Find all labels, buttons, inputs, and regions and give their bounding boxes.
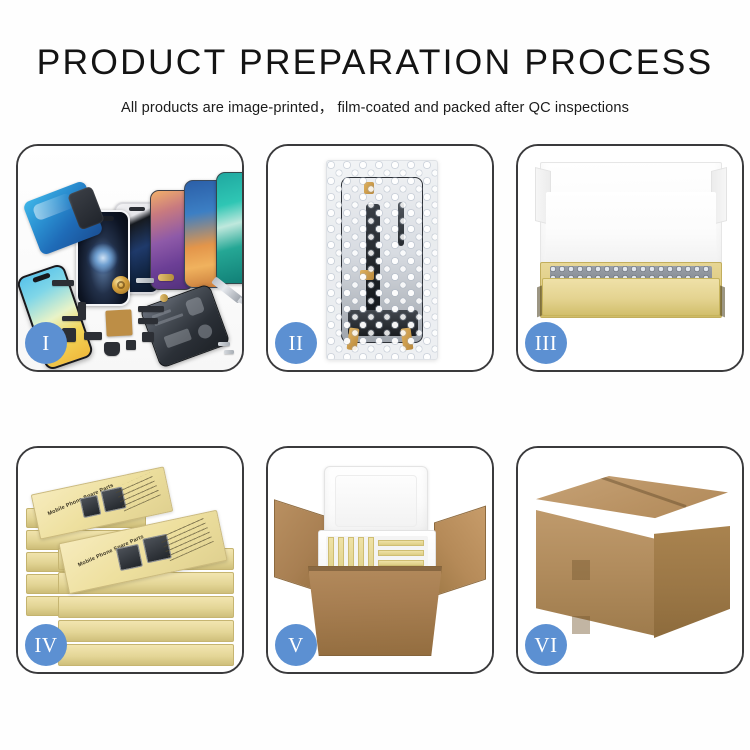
header: PRODUCT PREPARATION PROCESS All products…	[0, 0, 750, 130]
bubble-wrap-bag	[326, 160, 438, 360]
printed-text-block	[158, 516, 213, 561]
carton-side-face	[654, 526, 730, 638]
page-subtitle: All products are image-printed， film-coa…	[121, 96, 629, 117]
gold-chip-grid	[105, 309, 132, 336]
carton-front-face	[536, 510, 656, 636]
carton-body	[308, 566, 442, 656]
step-badge-3: III	[525, 322, 567, 364]
printed-phone-image	[79, 495, 102, 519]
product-preparation-infographic: PRODUCT PREPARATION PROCESS All products…	[0, 0, 750, 750]
spare-part	[158, 274, 174, 281]
foam-liner	[546, 192, 716, 268]
yellow-box	[378, 540, 424, 546]
phone-back-cover	[139, 283, 230, 368]
spare-part	[224, 350, 234, 354]
sealed-carton	[536, 476, 728, 642]
step-badge-1: I	[25, 322, 67, 364]
spare-part	[160, 294, 168, 302]
process-step-6[interactable]: VI	[516, 446, 744, 674]
process-step-3[interactable]: III	[516, 144, 744, 372]
tape-strip	[360, 270, 374, 280]
spare-part	[138, 306, 164, 312]
step-badge-2: II	[275, 322, 317, 364]
process-step-1[interactable]: I	[16, 144, 244, 372]
step-badge-5: V	[275, 624, 317, 666]
tape-strip	[364, 182, 374, 194]
cover-detail-4	[163, 328, 192, 348]
phone-teal	[216, 172, 242, 284]
process-step-5[interactable]: V	[266, 446, 494, 674]
carton-flap-right	[434, 506, 486, 597]
connector-board	[348, 310, 418, 336]
flex-cable	[366, 204, 380, 322]
spare-part	[126, 340, 136, 350]
carton-tape-mark	[572, 616, 590, 634]
side-component	[398, 202, 404, 246]
box-lid	[58, 620, 234, 642]
tape-strip	[401, 327, 414, 350]
styrofoam-lid	[324, 466, 428, 538]
spare-part	[218, 342, 230, 346]
printed-text-block	[115, 472, 162, 511]
wrapped-screen-part	[341, 177, 423, 343]
yellow-box	[378, 560, 424, 566]
step-badge-6: VI	[525, 624, 567, 666]
process-step-4[interactable]: Mobile Phone Spare Parts Mobile Phone Sp…	[16, 446, 244, 674]
printed-phone-image	[116, 544, 143, 571]
kraft-box-front	[542, 278, 720, 316]
box-lid	[58, 644, 234, 666]
spare-part	[52, 280, 74, 286]
spare-part	[136, 278, 154, 283]
spare-part	[84, 332, 102, 340]
yellow-box	[378, 550, 424, 556]
process-grid: I II	[16, 144, 742, 692]
step-badge-4: IV	[25, 624, 67, 666]
box-lid	[58, 596, 234, 618]
spare-part	[62, 316, 82, 321]
spare-part	[104, 342, 120, 356]
carton-tape-mark	[572, 560, 590, 580]
tape-strip	[347, 327, 360, 350]
page-title: PRODUCT PREPARATION PROCESS	[37, 42, 714, 83]
cover-detail-3	[185, 296, 206, 317]
process-step-2[interactable]: II	[266, 144, 494, 372]
cover-detail-5	[196, 322, 214, 340]
spare-part	[142, 332, 154, 342]
copper-coil-part	[112, 276, 130, 294]
spare-part	[138, 318, 158, 324]
